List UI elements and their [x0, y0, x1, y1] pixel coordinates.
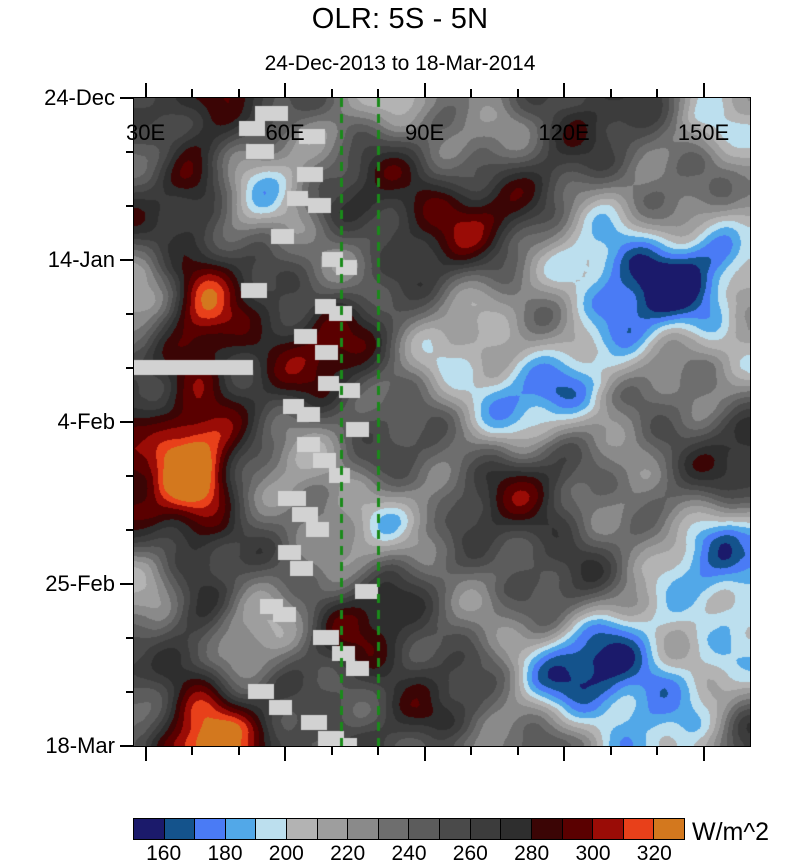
x-axis-major-tick [284, 746, 286, 761]
x-axis-minor-tick [517, 746, 519, 755]
colorbar-swatch [471, 819, 502, 839]
y-axis-label: 25-Feb [45, 571, 115, 597]
y-axis-label: 14-Jan [48, 247, 115, 273]
x-axis-minor-tick [610, 89, 612, 98]
y-axis-major-tick [120, 259, 134, 261]
colorbar-swatch [134, 819, 165, 839]
y-axis-minor-tick [126, 691, 134, 693]
x-axis-minor-tick [331, 746, 333, 755]
x-axis-label: 120E [538, 120, 589, 146]
x-axis-minor-tick [610, 746, 612, 755]
x-axis-minor-tick [656, 746, 658, 755]
colorbar-tick-label: 300 [575, 842, 610, 866]
colorbar-units-label: W/m^2 [692, 818, 769, 847]
colorbar-tick-label: 160 [146, 842, 181, 866]
colorbar-swatch [563, 819, 594, 839]
colorbar-tick-label: 220 [330, 842, 365, 866]
y-axis-minor-tick [126, 529, 134, 531]
colorbar-tick-label: 320 [637, 842, 672, 866]
colorbar-swatch [287, 819, 318, 839]
x-axis-label: 150E [678, 120, 729, 146]
x-axis-minor-tick [331, 89, 333, 98]
olr-heatmap-canvas [134, 98, 750, 746]
x-axis-major-tick [284, 83, 286, 98]
x-axis-major-tick [703, 83, 705, 98]
y-axis-minor-tick [126, 475, 134, 477]
y-axis-minor-tick [126, 637, 134, 639]
x-axis-minor-tick [470, 746, 472, 755]
colorbar-tick-label: 180 [207, 842, 242, 866]
x-axis-minor-tick [656, 89, 658, 98]
colorbar-swatch [501, 819, 532, 839]
y-axis-label: 18-Mar [45, 733, 115, 759]
colorbar [133, 818, 685, 840]
y-axis-major-tick [120, 583, 134, 585]
x-axis-minor-tick [470, 89, 472, 98]
y-axis-label: 4-Feb [58, 409, 115, 435]
colorbar-swatch [654, 819, 684, 839]
x-axis-major-tick [424, 746, 426, 761]
page-title: OLR: 5S - 5N [0, 3, 800, 36]
colorbar-tick-label: 200 [269, 842, 304, 866]
x-axis-label: 60E [266, 120, 305, 146]
hovmoller-plot-area: 24-Dec14-Jan4-Feb25-Feb18-Mar 30E60E90E1… [133, 97, 751, 747]
x-axis-minor-tick [238, 746, 240, 755]
colorbar-swatch [532, 819, 563, 839]
colorbar-swatch [379, 819, 410, 839]
colorbar-swatch [440, 819, 471, 839]
colorbar-swatch [348, 819, 379, 839]
colorbar-tick-label: 240 [391, 842, 426, 866]
x-axis-major-tick [145, 83, 147, 98]
colorbar-tick-label: 280 [514, 842, 549, 866]
y-axis-minor-tick [126, 367, 134, 369]
y-axis-minor-tick [126, 313, 134, 315]
x-axis-label: 90E [405, 120, 444, 146]
colorbar-swatch [256, 819, 287, 839]
colorbar-swatch [409, 819, 440, 839]
y-axis-label: 24-Dec [44, 85, 115, 111]
x-axis-minor-tick [191, 746, 193, 755]
y-axis-minor-tick [126, 151, 134, 153]
x-axis-minor-tick [191, 89, 193, 98]
x-axis-minor-tick [377, 746, 379, 755]
figure-root: OLR: 5S - 5N 24-Dec-2013 to 18-Mar-2014 … [0, 0, 800, 863]
x-axis-minor-tick [377, 89, 379, 98]
colorbar-swatch [195, 819, 226, 839]
y-axis-major-tick [120, 745, 134, 747]
colorbar-swatch [593, 819, 624, 839]
chart-subtitle: 24-Dec-2013 to 18-Mar-2014 [0, 52, 800, 76]
x-axis-label: 30E [126, 120, 165, 146]
colorbar-swatch [226, 819, 257, 839]
x-axis-major-tick [703, 746, 705, 761]
y-axis-major-tick [120, 421, 134, 423]
y-axis-minor-tick [126, 205, 134, 207]
x-axis-minor-tick [517, 89, 519, 98]
x-axis-minor-tick [238, 89, 240, 98]
colorbar-swatch [165, 819, 196, 839]
x-axis-major-tick [145, 746, 147, 761]
colorbar-swatch [318, 819, 349, 839]
x-axis-major-tick [563, 746, 565, 761]
x-axis-major-tick [563, 83, 565, 98]
x-axis-major-tick [424, 83, 426, 98]
y-axis-major-tick [120, 97, 134, 99]
colorbar-tick-label: 260 [453, 842, 488, 866]
colorbar-swatch [624, 819, 655, 839]
